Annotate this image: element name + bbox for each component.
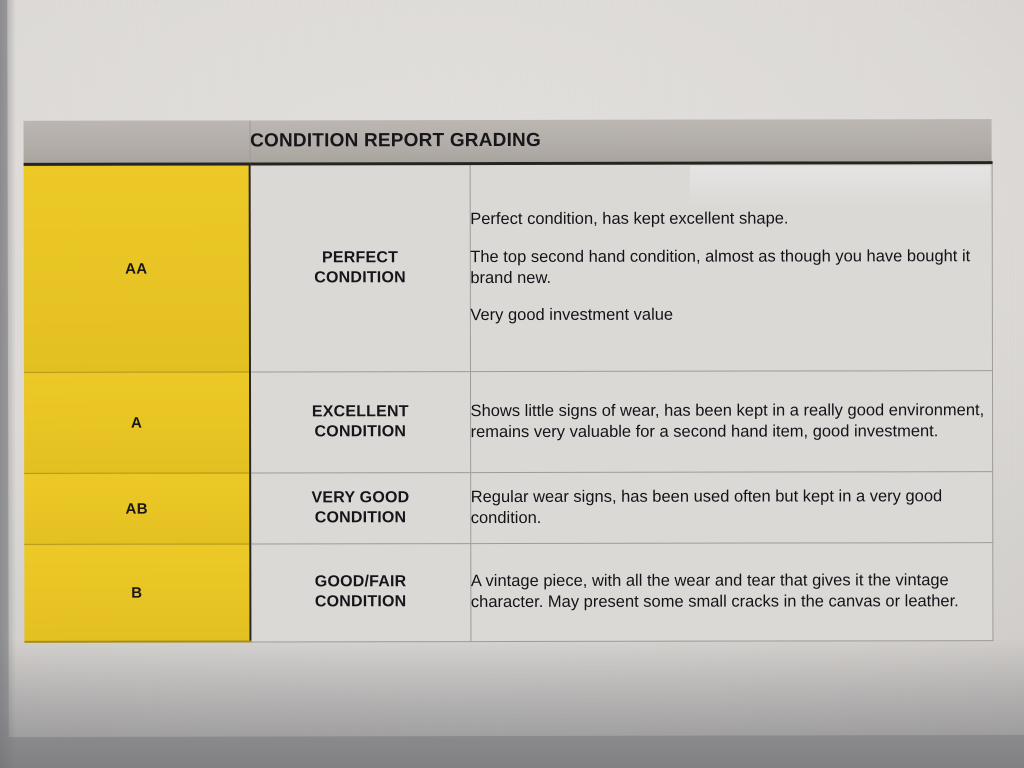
header-row: CONDITION REPORT GRADING bbox=[24, 119, 992, 164]
condition-name-aa: PERFECT CONDITION bbox=[250, 164, 470, 372]
page-title: CONDITION REPORT GRADING bbox=[250, 119, 992, 164]
description-ab: Regular wear signs, has been used often … bbox=[470, 472, 992, 544]
description-paragraph: The top second hand condition, almost as… bbox=[470, 246, 991, 290]
description-paragraph: A vintage piece, with all the wear and t… bbox=[471, 570, 992, 614]
condition-name-line-2: CONDITION bbox=[315, 509, 407, 526]
condition-name-line-2: CONDITION bbox=[315, 593, 407, 610]
condition-name-b: GOOD/FAIR CONDITION bbox=[250, 544, 470, 642]
description-paragraph: Very good investment value bbox=[470, 305, 991, 327]
grade-label-aa: AA bbox=[24, 164, 250, 372]
condition-name-a: EXCELLENT CONDITION bbox=[250, 372, 470, 473]
description-aa: Perfect condition, has kept excellent sh… bbox=[470, 163, 992, 372]
grade-label-a: A bbox=[24, 372, 250, 473]
photo-surface: CONDITION REPORT GRADING AA PERFECT COND… bbox=[0, 0, 1024, 768]
condition-name-line-1: VERY GOOD bbox=[312, 489, 410, 506]
condition-name-line-2: CONDITION bbox=[314, 269, 406, 286]
table-header: CONDITION REPORT GRADING bbox=[24, 119, 992, 164]
description-b: A vintage piece, with all the wear and t… bbox=[470, 543, 992, 641]
condition-name-line-1: EXCELLENT bbox=[312, 403, 409, 420]
table-row: AB VERY GOOD CONDITION Regular wear sign… bbox=[24, 472, 992, 545]
table-body: AA PERFECT CONDITION Perfect condition, … bbox=[24, 163, 993, 642]
grade-label-b: B bbox=[24, 544, 250, 642]
table-row: A EXCELLENT CONDITION Shows little signs… bbox=[24, 371, 992, 474]
condition-name-line-1: PERFECT bbox=[322, 249, 398, 266]
description-paragraph: Perfect condition, has kept excellent sh… bbox=[470, 208, 991, 230]
description-a: Shows little signs of wear, has been kep… bbox=[470, 371, 992, 473]
description-paragraph: Regular wear signs, has been used often … bbox=[471, 486, 992, 530]
condition-report-grading-table: CONDITION REPORT GRADING AA PERFECT COND… bbox=[24, 119, 993, 643]
grade-label-ab: AB bbox=[24, 473, 250, 544]
table-row: B GOOD/FAIR CONDITION A vintage piece, w… bbox=[24, 543, 992, 642]
table-row: AA PERFECT CONDITION Perfect condition, … bbox=[24, 163, 992, 373]
condition-name-line-2: CONDITION bbox=[315, 423, 407, 440]
condition-name-ab: VERY GOOD CONDITION bbox=[250, 473, 470, 544]
description-paragraph: Shows little signs of wear, has been kep… bbox=[471, 400, 992, 444]
condition-name-line-1: GOOD/FAIR bbox=[315, 573, 407, 590]
header-band-left-spacer bbox=[24, 120, 250, 164]
